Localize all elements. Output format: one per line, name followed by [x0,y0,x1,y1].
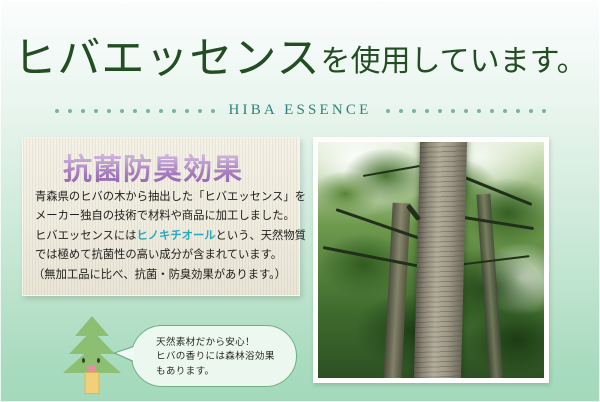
card-body: 青森県のヒバの木から抽出した「ヒバエッセンス」を メーカー独自の技術で材料や商品… [35,188,293,285]
headline: ヒバエッセンスを使用しています。 [0,38,600,81]
photo-frame [313,137,549,383]
headline-tail: を使用しています。 [321,45,587,78]
card-body-line-5: （無加工品に比べ、抗菌・防臭効果があります。） [35,266,293,285]
mascot-eye-left [82,358,85,363]
header: ヒバエッセンスを使用しています。 [0,38,600,81]
dotted-rule-right [386,109,546,113]
card-body-line-3-pre: ヒバエッセンスには [35,230,136,242]
card-body-line-1: 青森県のヒバの木から抽出した「ヒバエッセンス」を [35,188,293,207]
card-title: 抗菌防臭効果 [63,146,243,188]
tree-trunk [85,372,100,394]
card-body-line-2: メーカー独自の技術で材料や商品に加工しました。 [35,207,293,226]
speech-bubble-text: 天然素材だから安心！ ヒバの香りには森林浴効果 もあります。 [156,336,275,379]
speech-bubble-tail [113,346,133,362]
subtitle-row: HIBA ESSENCE [0,102,600,119]
advertisement-banner: ヒバエッセンスを使用しています。 HIBA ESSENCE 抗菌防臭効果 青森県… [0,0,600,402]
ingredient-highlight: ヒノキチオール [136,230,215,242]
info-card: 抗菌防臭効果 青森県のヒバの木から抽出した「ヒバエッセンス」を メーカー独自の技… [22,137,300,296]
speech-bubble: 天然素材だから安心！ ヒバの香りには森林浴効果 もあります。 [131,325,297,387]
card-body-line-4: では極めて抗菌性の高い成分が含まれています。 [35,246,293,265]
speech-bubble-line-3: もあります。 [156,365,275,379]
headline-main: ヒバエッセンス [13,36,320,83]
hiba-tree-photo [318,142,544,378]
photo-main-trunk [414,142,468,378]
dotted-rule-left [55,109,215,113]
card-body-line-3-post: という、天然物質 [216,230,306,242]
mascot-eye-right [97,358,100,363]
subtitle-text: HIBA ESSENCE [229,102,372,119]
card-body-line-3: ヒバエッセンスにはヒノキチオールという、天然物質 [35,227,293,246]
speech-bubble-line-2: ヒバの香りには森林浴効果 [156,350,275,364]
speech-bubble-line-1: 天然素材だから安心！ [156,336,275,350]
